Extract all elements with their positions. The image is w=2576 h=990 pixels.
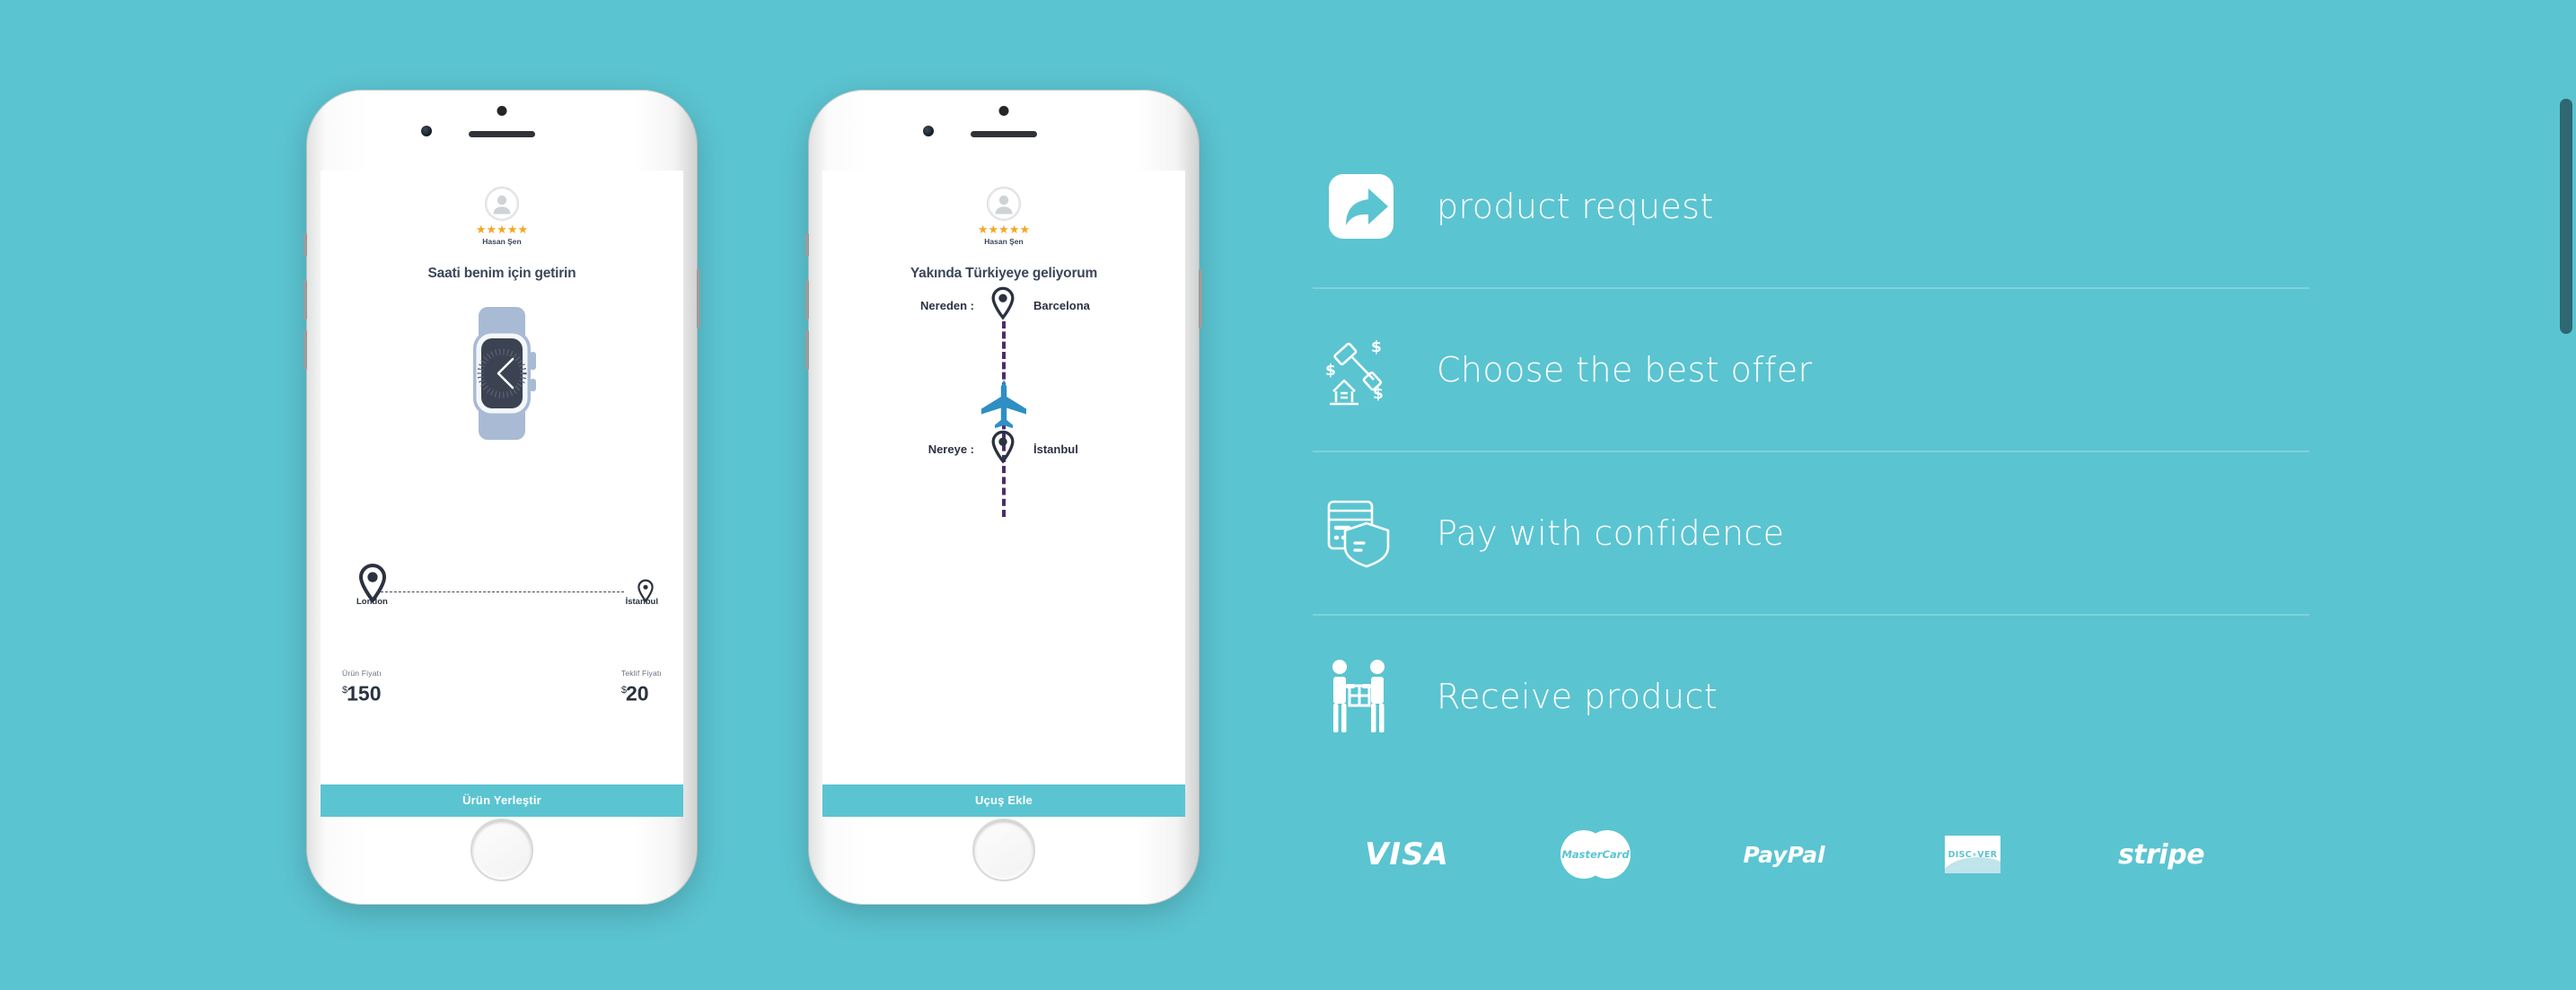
flight-from-value: Barcelona (1021, 299, 1139, 312)
volume-up-button (303, 280, 307, 320)
flight-from-row: Nereden : Barcelona (822, 285, 1185, 326)
payment-logo-discover: DISC∘VER (1878, 836, 2067, 873)
discover-wordmark: DISC∘VER (1948, 850, 1998, 860)
phone2-screen: ★★★★★ Hasan Şen Yakında Türkiyeye geliyo… (822, 171, 1185, 817)
proximity-sensor-icon (497, 106, 507, 116)
visa-wordmark: VISA (1365, 837, 1449, 872)
route-row: London İstanbul (340, 563, 665, 604)
map-pin-filled-icon (985, 429, 1021, 469)
svg-text:$: $ (1373, 385, 1384, 403)
flight-to-value: İstanbul (1021, 442, 1139, 456)
offer-price-value: $20 (621, 679, 662, 705)
smartwatch-image (321, 305, 683, 444)
rating-stars: ★★★★★ (822, 223, 1185, 235)
volume-down-button (303, 330, 307, 370)
silent-switch (805, 233, 809, 257)
power-button (697, 269, 700, 329)
flight-to-label: Nereye : (868, 442, 985, 456)
payment-logo-visa: VISA (1313, 837, 1501, 872)
route-destination-label: İstanbul (626, 597, 658, 607)
volume-down-button (805, 330, 809, 370)
payment-logo-mastercard: MasterCard (1501, 830, 1690, 879)
credit-card-shield-icon (1313, 498, 1410, 568)
discover-arc (1945, 857, 2000, 873)
svg-text:$: $ (1371, 338, 1382, 356)
feature-item-product-request[interactable]: product request (1313, 126, 2309, 289)
route-dashed-line (376, 591, 624, 592)
offer-price: Teklif Fiyatı $20 (621, 669, 662, 705)
volume-up-button (805, 280, 809, 320)
feature-item-pay-confidence[interactable]: Pay with confidence (1313, 452, 2309, 616)
route-origin-label: London (356, 597, 388, 607)
home-button[interactable] (972, 819, 1035, 881)
page-root: ★★★★★ Hasan Şen Saati benim için getirin (0, 0, 2576, 990)
svg-text:$: $ (1325, 362, 1336, 380)
user-avatar-icon (987, 187, 1021, 221)
share-arrow-icon (1313, 173, 1410, 240)
user-name: Hasan Şen (822, 237, 1185, 246)
product-price-label: Ürün Fiyatı (342, 669, 382, 678)
payment-methods: VISA MasterCard PayPal DISC∘VER stripe (1313, 830, 2309, 879)
airplane-icon (980, 379, 1028, 434)
auction-gavel-icon: $ $ $ (1313, 334, 1410, 406)
price-row: Ürün Fiyatı $150 Teklif Fiyatı $20 (321, 669, 683, 705)
feature-label: Receive product (1437, 677, 1718, 716)
earpiece-speaker (469, 131, 535, 137)
mastercard-wordmark: MasterCard (1561, 848, 1631, 861)
phone-mockup-add-flight: ★★★★★ Hasan Şen Yakında Türkiyeye geliyo… (808, 90, 1200, 905)
feature-label: Choose the best offer (1437, 350, 1813, 390)
phone-mockup-product-request: ★★★★★ Hasan Şen Saati benim için getirin (306, 90, 698, 905)
flight-to-row: Nereye : İstanbul (822, 429, 1185, 469)
feature-label: Pay with confidence (1437, 513, 1784, 553)
earpiece-speaker (971, 131, 1037, 137)
payment-logo-stripe: stripe (2067, 839, 2255, 871)
payment-logo-paypal: PayPal (1690, 842, 1878, 868)
feature-label: product request (1437, 187, 1714, 226)
offer-price-label: Teklif Fiyatı (621, 669, 662, 678)
product-price-value: $150 (342, 679, 382, 705)
place-product-button[interactable]: Ürün Yerleştir (321, 784, 683, 817)
flight-headline: Yakında Türkiyeye geliyorum (822, 266, 1185, 282)
user-name: Hasan Şen (321, 237, 683, 246)
page-scrollbar-thumb[interactable] (2560, 99, 2572, 334)
home-button[interactable] (470, 819, 533, 881)
feature-item-receive-product[interactable]: Receive product (1313, 616, 2309, 777)
page-scrollbar-track[interactable] (2556, 0, 2576, 990)
power-button (1199, 269, 1202, 329)
stripe-wordmark: stripe (2118, 839, 2204, 871)
silent-switch (303, 233, 307, 257)
proximity-sensor-icon (999, 106, 1009, 116)
handoff-people-icon (1313, 659, 1410, 734)
feature-list: product request $ $ $ (1313, 126, 2309, 777)
user-avatar-icon (485, 187, 519, 221)
add-flight-button[interactable]: Uçuş Ekle (822, 784, 1185, 817)
feature-item-choose-offer[interactable]: $ $ $ Choose the best offer (1313, 289, 2309, 452)
request-headline: Saati benim için getirin (321, 266, 683, 282)
front-camera-icon (421, 126, 432, 136)
product-price: Ürün Fiyatı $150 (342, 669, 382, 705)
phone1-screen: ★★★★★ Hasan Şen Saati benim için getirin (321, 171, 683, 817)
paypal-wordmark: PayPal (1743, 842, 1824, 868)
flight-from-label: Nereden : (868, 299, 985, 312)
map-pin-filled-icon (985, 285, 1021, 326)
rating-stars: ★★★★★ (321, 223, 683, 235)
front-camera-icon (923, 126, 934, 136)
